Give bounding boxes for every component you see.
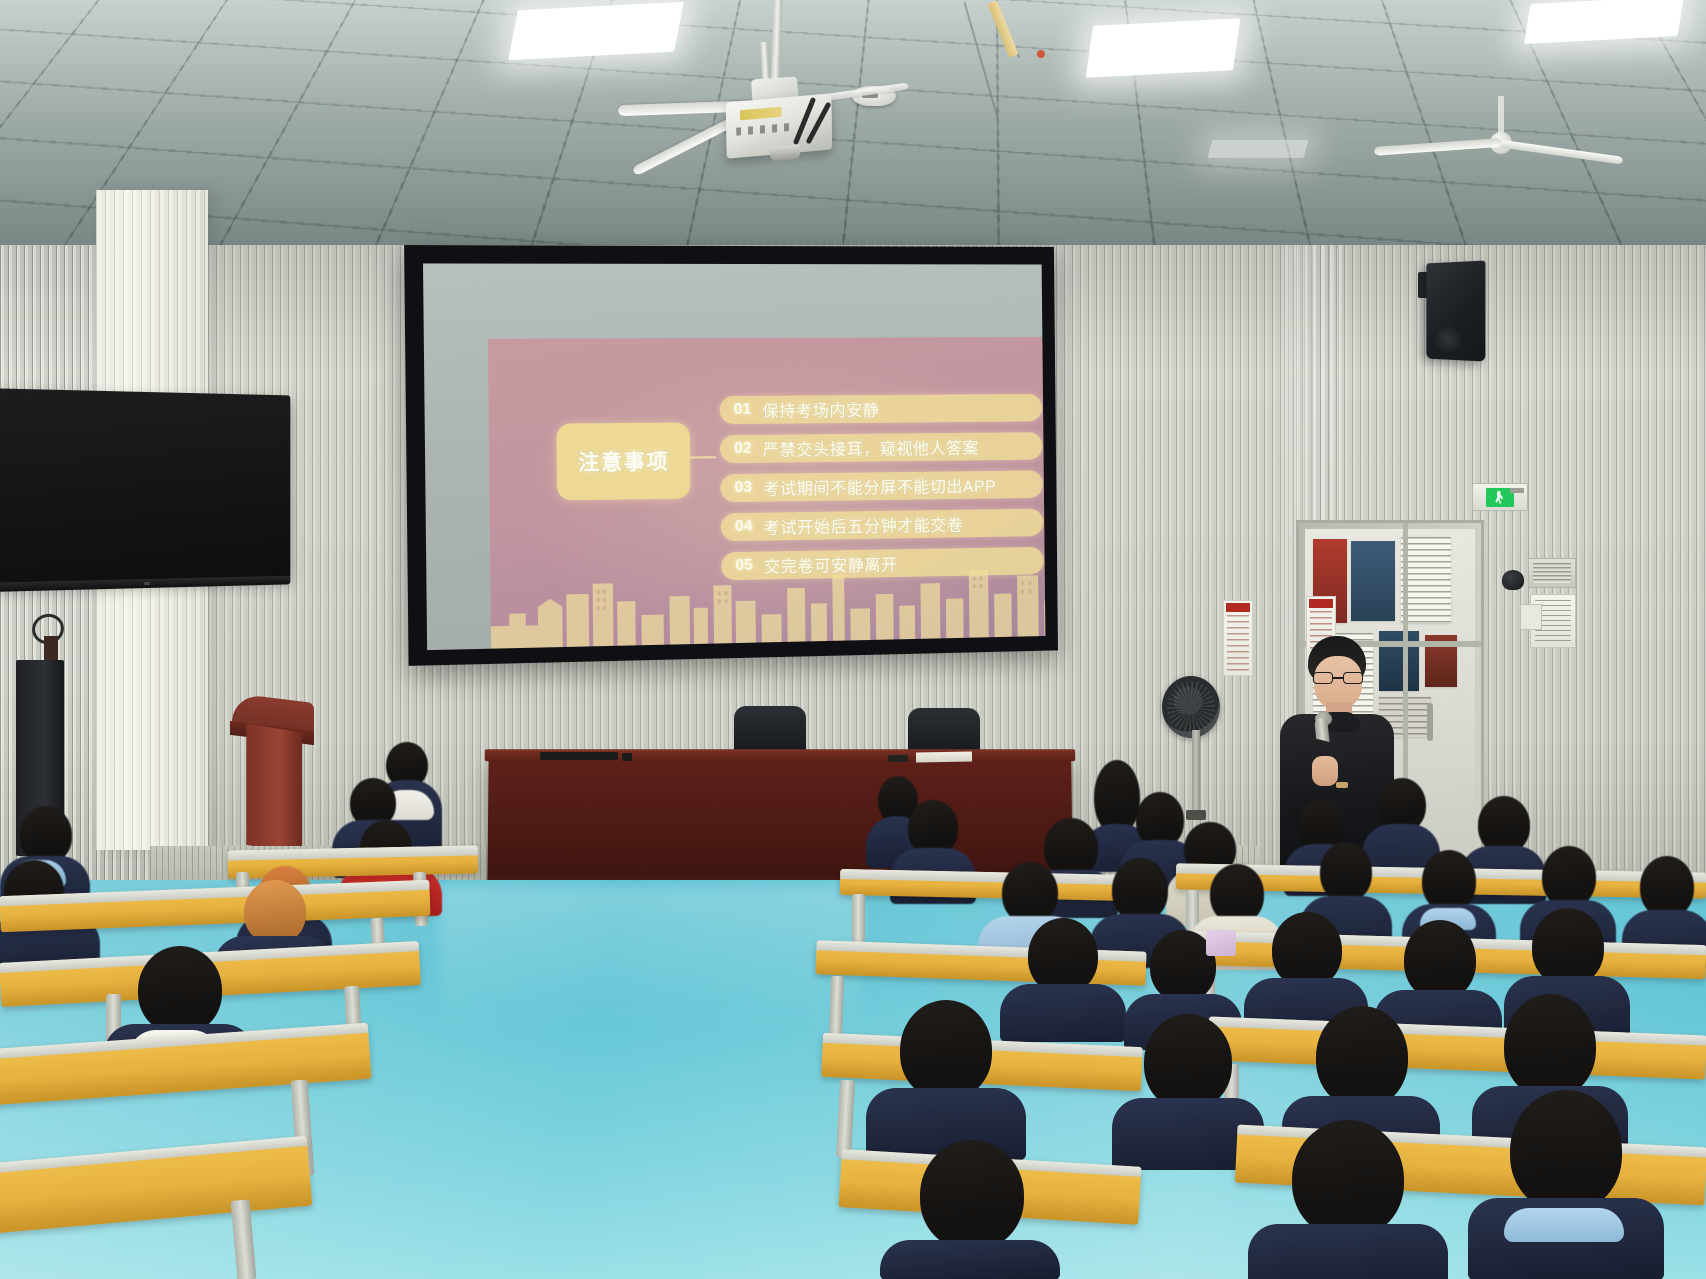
desk-leg: [852, 894, 865, 942]
glasses-lens: [1343, 672, 1363, 684]
student-torso: [880, 1240, 1060, 1279]
podium: [246, 724, 302, 856]
projection-screen: 注意事项 01 保持考场内安静 02 严禁交头接耳，窥视他人答案 03 考试期间…: [404, 245, 1058, 666]
wall-notice-poster: [1223, 600, 1253, 676]
slide-item: 05 交完卷可安静离开: [721, 547, 1044, 581]
student-head: [1292, 1120, 1404, 1238]
desk-leg: [829, 976, 844, 1038]
student-head: [244, 880, 306, 944]
notice-header: [1226, 603, 1250, 612]
slide-item-number: 01: [733, 401, 751, 419]
wall-vent: [1528, 558, 1576, 588]
student-torso: [1248, 1224, 1448, 1279]
wristwatch-icon: [1336, 782, 1348, 788]
student-head: [920, 1140, 1024, 1250]
student-head: [1112, 858, 1168, 922]
slide-title: 注意事项: [578, 446, 669, 477]
student-head: [1422, 850, 1476, 912]
security-camera-icon: [1502, 570, 1524, 590]
slide-item-number: 03: [734, 479, 752, 497]
student-head: [1510, 1090, 1622, 1212]
slide-item-number: 02: [734, 440, 752, 458]
glasses-icon: [1313, 672, 1363, 684]
table-item: [888, 755, 908, 762]
slide-title-box: 注意事项: [556, 422, 690, 500]
wall-speaker: [1426, 260, 1485, 361]
student-head: [1272, 912, 1342, 988]
presenter-hand: [1312, 756, 1338, 786]
student-collar: [1504, 1208, 1624, 1242]
student: [880, 1140, 1060, 1279]
ceiling-light: [508, 2, 684, 61]
notice-header: [1309, 599, 1333, 608]
slide-item-text: 保持考场内安静: [762, 397, 879, 422]
exit-sign: [1472, 483, 1528, 511]
slide-item: 02 严禁交头接耳，窥视他人答案: [720, 432, 1043, 463]
student-head: [1144, 1014, 1232, 1110]
projector-ports: [736, 123, 792, 136]
student-head: [1504, 994, 1596, 1098]
poster: [1401, 537, 1451, 623]
slide-item-number: 04: [735, 518, 753, 536]
ceiling-light: [1207, 140, 1308, 158]
slide-item-text: 严禁交头接耳，窥视他人答案: [762, 435, 979, 461]
slide-item-text: 考试开始后五分钟才能交卷: [763, 512, 963, 539]
presentation-slide: 注意事项 01 保持考场内安静 02 严禁交头接耳，窥视他人答案 03 考试期间…: [488, 337, 1046, 649]
slide-item-text: 考试期间不能分屏不能切出APP: [763, 473, 996, 500]
student-head: [1002, 862, 1058, 924]
exit-sign-label: [1510, 488, 1524, 493]
wall-mounted-tv[interactable]: [0, 388, 290, 585]
student-head: [1640, 856, 1694, 918]
glasses-lens: [1313, 672, 1333, 684]
slide-item-number: 05: [735, 557, 753, 575]
student-head: [138, 946, 222, 1034]
table-papers: [916, 752, 972, 763]
student: [1468, 1090, 1664, 1279]
table-item: [622, 753, 632, 761]
aisle-reflection: [440, 886, 860, 1036]
slide-item: 03 考试期间不能分屏不能切出APP: [720, 470, 1043, 502]
tv-power-led-icon: [144, 582, 150, 585]
glasses-bridge: [1333, 677, 1343, 679]
screen-surface: 注意事项 01 保持考场内安静 02 严禁交头接耳，窥视他人答案 03 考试期间…: [423, 263, 1045, 650]
student: [866, 1000, 1026, 1160]
door-handle[interactable]: [1427, 703, 1433, 741]
projector-lens: [769, 145, 800, 162]
ceiling: [0, 0, 1706, 262]
wall-fan-icon: [1162, 676, 1220, 738]
phone-screen: [1206, 930, 1236, 956]
student-head: [1320, 842, 1372, 902]
projector-vent: [740, 107, 782, 121]
ceiling-light: [1086, 18, 1241, 78]
student-head: [1542, 846, 1596, 908]
slide-item-list: 01 保持考场内安静 02 严禁交头接耳，窥视他人答案 03 考试期间不能分屏不…: [719, 394, 1043, 591]
student-head: [1316, 1006, 1408, 1108]
student-head: [1404, 920, 1476, 1000]
light-switch[interactable]: [1520, 604, 1542, 630]
table-item: [540, 752, 618, 760]
ceiling-shading: [0, 0, 1706, 262]
poster: [1351, 541, 1395, 621]
slide-item: 01 保持考场内安静: [719, 394, 1042, 424]
slide-item-text: 交完卷可安静离开: [764, 551, 898, 577]
lecture-hall-photo: 注意事项 01 保持考场内安静 02 严禁交头接耳，窥视他人答案 03 考试期间…: [0, 0, 1706, 1279]
student-head: [1028, 918, 1098, 994]
notice-text-lines: [1227, 615, 1249, 672]
student: [1248, 1120, 1448, 1279]
student-head: [1532, 908, 1604, 986]
slide-title-connector: [690, 456, 716, 458]
ceiling-hook-tip: [1037, 50, 1045, 58]
student-head: [900, 1000, 992, 1100]
slide-item: 04 考试开始后五分钟才能交卷: [721, 509, 1044, 542]
